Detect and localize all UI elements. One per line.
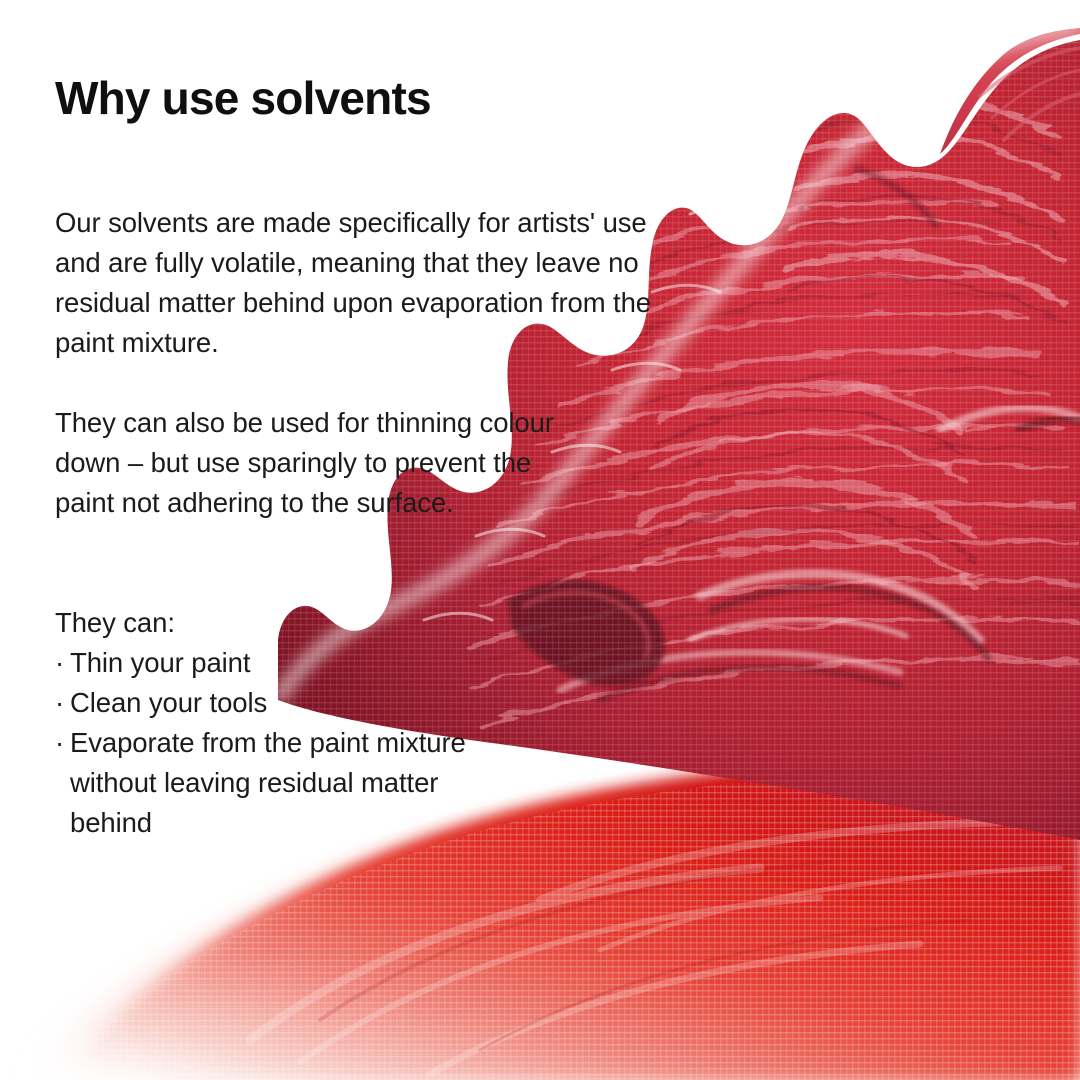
- list-item: · Clean your tools: [55, 683, 475, 723]
- text-column: Why use solvents Our solvents are made s…: [55, 0, 715, 1080]
- list-item-label: Thin your paint: [70, 643, 475, 683]
- capabilities-list: · Thin your paint · Clean your tools · E…: [55, 643, 475, 843]
- bullet-dot-icon: ·: [55, 683, 64, 723]
- paragraph-two-text: They can also be used for thinning colou…: [55, 403, 575, 523]
- list-item: · Evaporate from the paint mixture witho…: [55, 723, 475, 843]
- paragraph-one-text: Our solvents are made specifically for a…: [55, 203, 695, 363]
- solvents-info-card: Why use solvents Our solvents are made s…: [0, 0, 1080, 1080]
- page-title: Why use solvents: [55, 69, 431, 127]
- bullet-dot-icon: ·: [55, 723, 64, 763]
- list-item: · Thin your paint: [55, 643, 475, 683]
- capabilities-block: They can: · Thin your paint · Clean your…: [55, 603, 475, 843]
- list-intro-text: They can:: [55, 603, 475, 643]
- list-item-label: Clean your tools: [70, 683, 475, 723]
- list-item-label: Evaporate from the paint mixture without…: [70, 723, 475, 843]
- paint-top-peaks: [940, 28, 1080, 154]
- paragraph-two: They can also be used for thinning colou…: [55, 403, 575, 523]
- bullet-dot-icon: ·: [55, 643, 64, 683]
- paragraph-one: Our solvents are made specifically for a…: [55, 203, 695, 363]
